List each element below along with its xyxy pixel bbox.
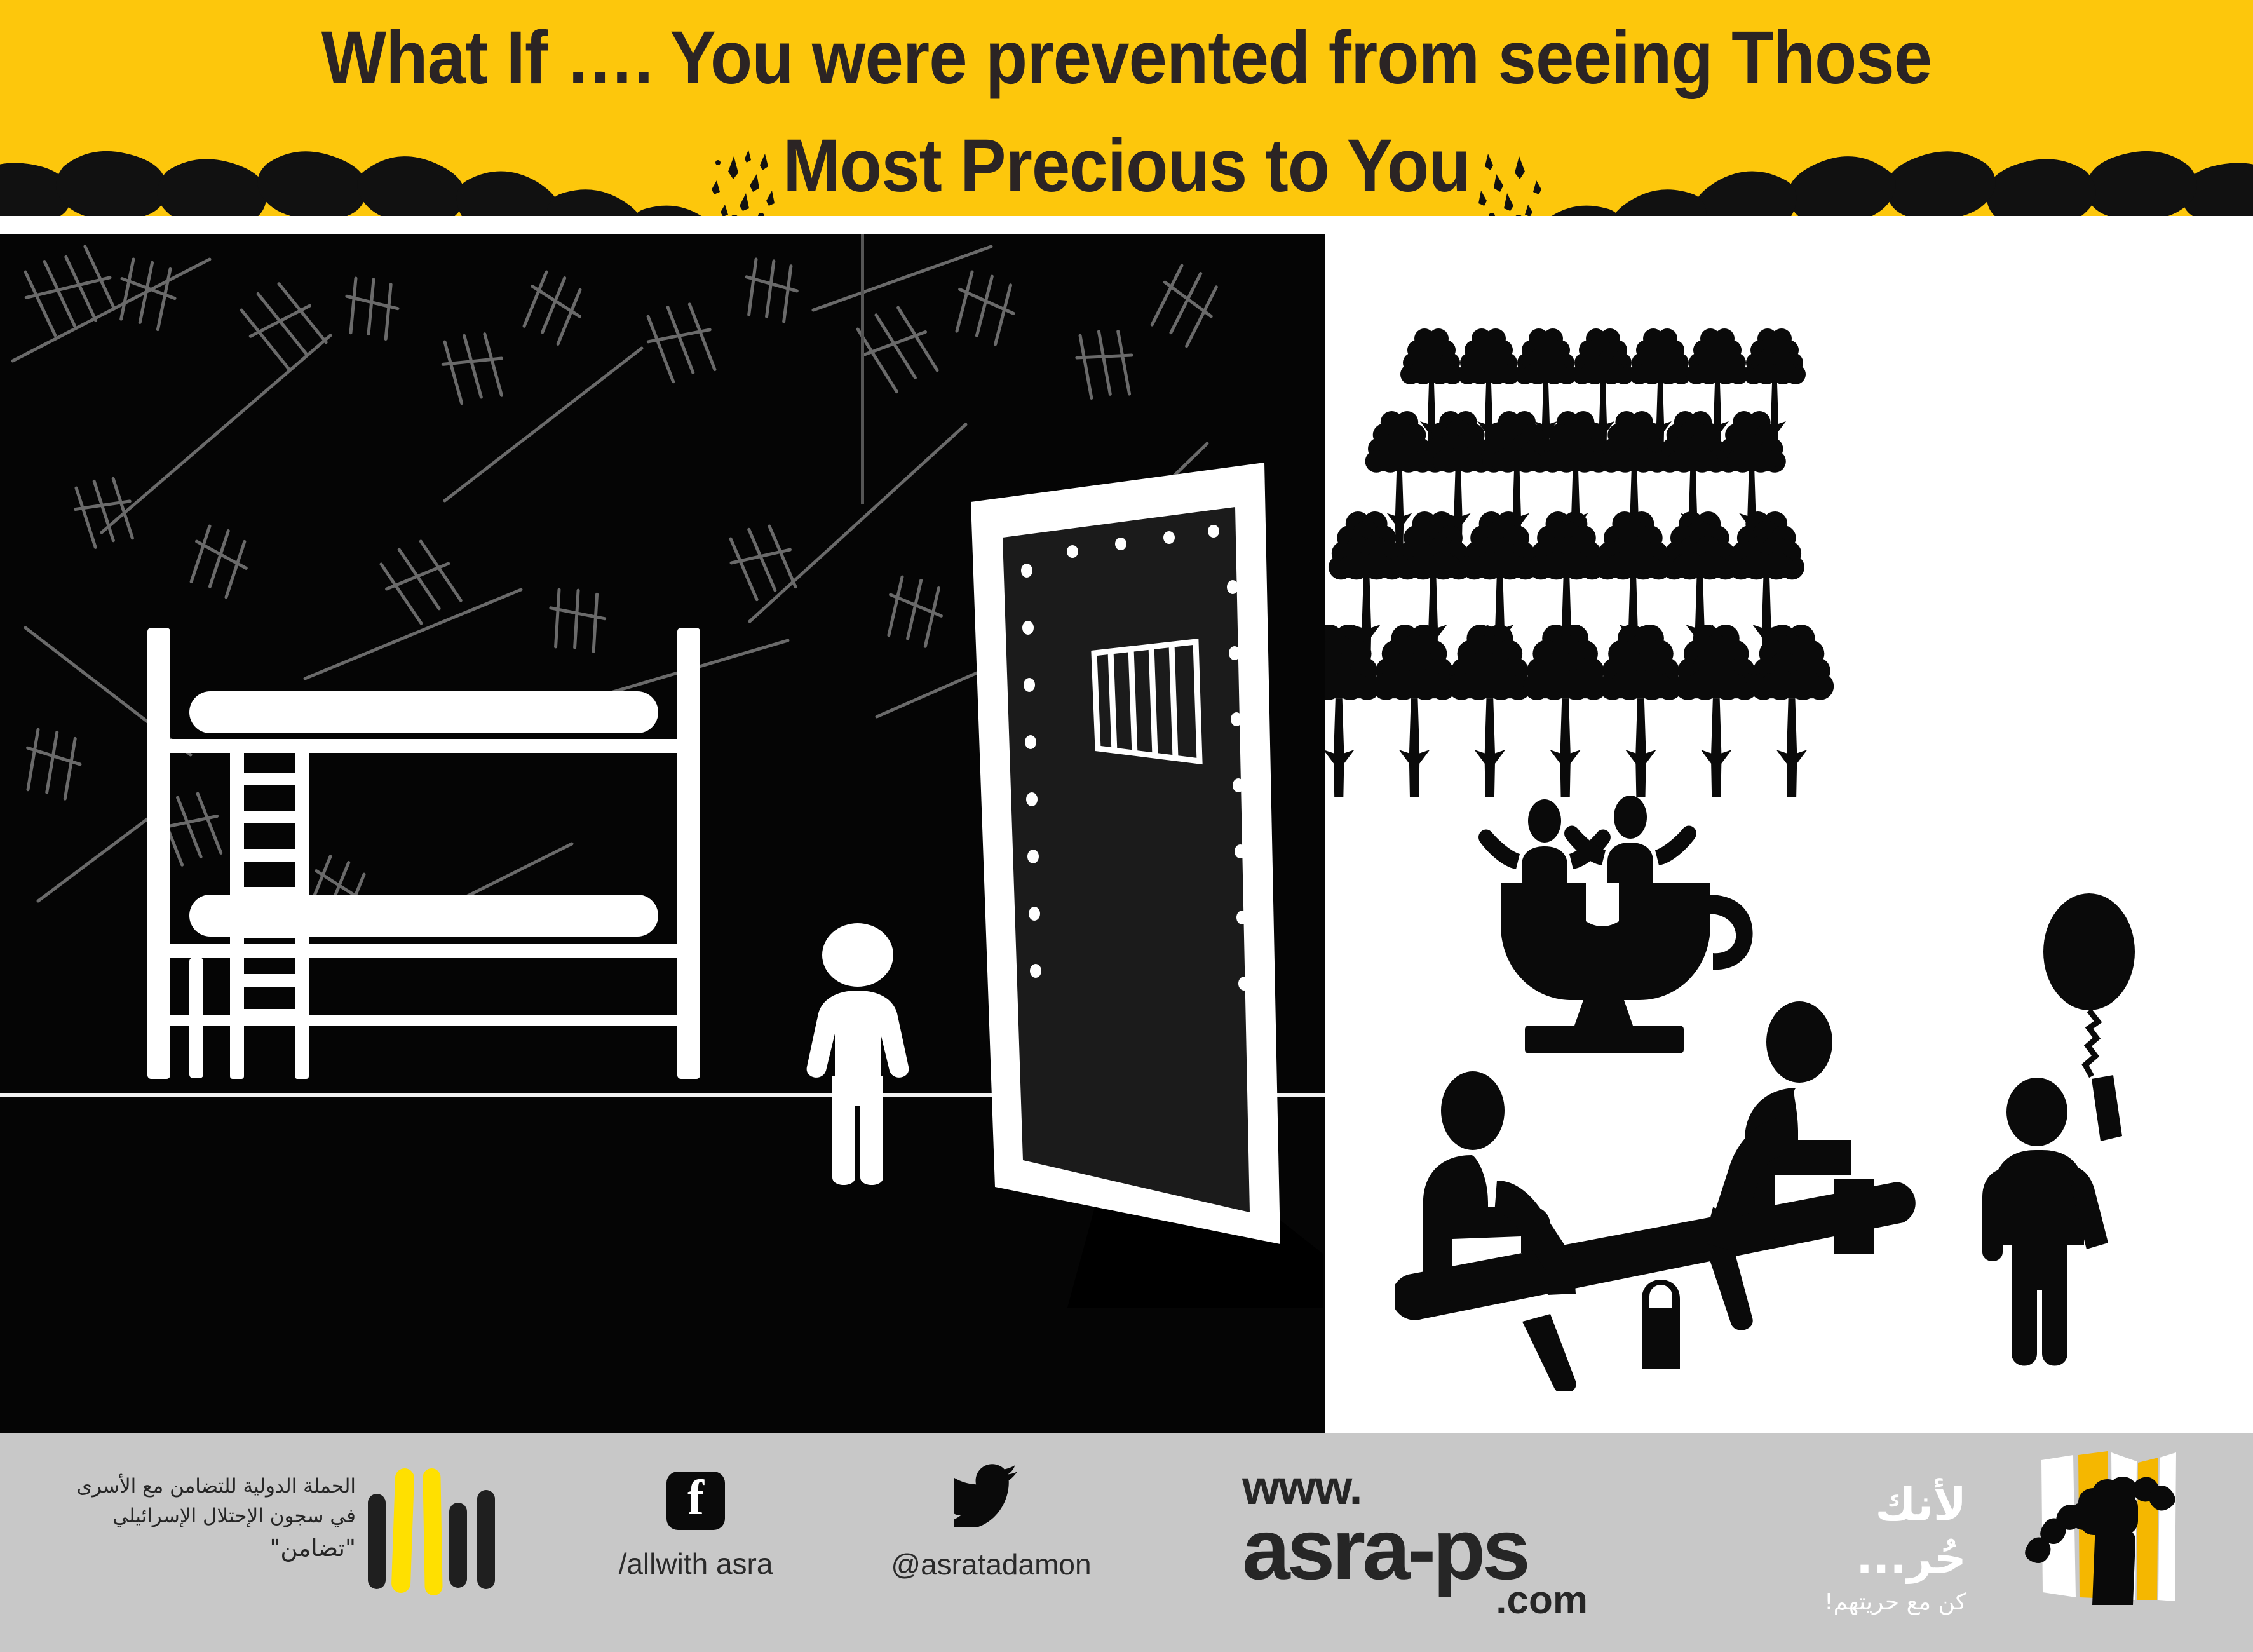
ladder-rung bbox=[230, 1009, 309, 1022]
ladder-rung bbox=[230, 811, 309, 823]
brand-tagline-sub: كن مع حريتهم! bbox=[1757, 1586, 1966, 1619]
ladder-rung bbox=[230, 849, 309, 862]
prison-cell-scene bbox=[0, 234, 1325, 1435]
facebook-block[interactable]: /allwith asra bbox=[575, 1472, 816, 1581]
poster-root: What If …. You were prevented from seein… bbox=[0, 0, 2253, 1652]
brand-logo-block: لأنك حُر... كن مع حريتهم! bbox=[1738, 1446, 2240, 1643]
bunk-post-left bbox=[147, 628, 170, 1079]
chain-icon bbox=[0, 147, 2253, 216]
twitter-handle[interactable]: @asratadamon bbox=[839, 1547, 1144, 1581]
tree-grid bbox=[1325, 315, 2253, 797]
campaign-line-2: في سجون الإحتلال الإسرائيلي bbox=[112, 1505, 356, 1527]
twitter-bird-icon[interactable] bbox=[954, 1464, 1029, 1527]
campaign-line-1: الحملة الدولية للتضامن مع الأسرى bbox=[77, 1475, 356, 1498]
brand-tagline: لأنك حُر... كن مع حريتهم! bbox=[1757, 1478, 1966, 1619]
bunk-post-right bbox=[677, 628, 700, 1079]
logo-bar-2 bbox=[391, 1468, 415, 1594]
bunk-mattress-top bbox=[189, 691, 658, 733]
bunk-leg-inner-left bbox=[189, 958, 203, 1078]
logo-bar-4 bbox=[449, 1503, 467, 1588]
prisoner-silhouette-icon bbox=[787, 923, 930, 1225]
ladder-rung bbox=[230, 887, 309, 900]
fist-breaking-chain-icon bbox=[1966, 1451, 2221, 1642]
teacup-ride-icon bbox=[1478, 796, 1753, 1053]
prison-door bbox=[934, 463, 1325, 1308]
ladder-rung bbox=[230, 773, 309, 785]
headline-line-1: What If …. You were prevented from seein… bbox=[321, 16, 1932, 100]
facebook-icon[interactable] bbox=[666, 1472, 725, 1530]
tree-row-4 bbox=[1325, 625, 1834, 797]
park-scene bbox=[1325, 216, 2253, 1433]
campaign-short-name: "تضامن" bbox=[0, 1533, 356, 1563]
logo-bar-1 bbox=[368, 1494, 386, 1589]
twitter-block[interactable]: @asratadamon bbox=[839, 1464, 1144, 1581]
seesaw-icon bbox=[1395, 1001, 1916, 1391]
bunk-bed bbox=[147, 628, 700, 1079]
logo-bar-5 bbox=[477, 1490, 495, 1589]
broken-chain-decoration bbox=[0, 147, 2253, 216]
playground-group bbox=[1395, 788, 2196, 1391]
ladder-rail-right bbox=[295, 748, 309, 1079]
campaign-description: الحملة الدولية للتضامن مع الأسرى في سجون… bbox=[0, 1472, 356, 1563]
facebook-handle[interactable]: /allwith asra bbox=[575, 1547, 816, 1581]
header-banner: What If …. You were prevented from seein… bbox=[0, 0, 2253, 216]
ladder-rail-left bbox=[230, 748, 244, 1079]
ladder-rung bbox=[230, 974, 309, 987]
logo-bar-3 bbox=[423, 1468, 442, 1595]
website-domain[interactable]: asra-ps bbox=[1242, 1506, 1649, 1592]
ladder-rung bbox=[230, 925, 309, 938]
footer-bar: الحملة الدولية للتضامن مع الأسرى في سجون… bbox=[0, 1433, 2253, 1652]
hanging-light-cord bbox=[861, 234, 864, 504]
brand-tagline-main: لأنك حُر... bbox=[1757, 1478, 1966, 1585]
campaign-bars-logo bbox=[365, 1468, 499, 1595]
child-with-balloon-icon bbox=[1982, 893, 2135, 1366]
website-block[interactable]: www. asra-ps .com bbox=[1242, 1464, 1649, 1620]
illustration-band bbox=[0, 216, 2253, 1433]
